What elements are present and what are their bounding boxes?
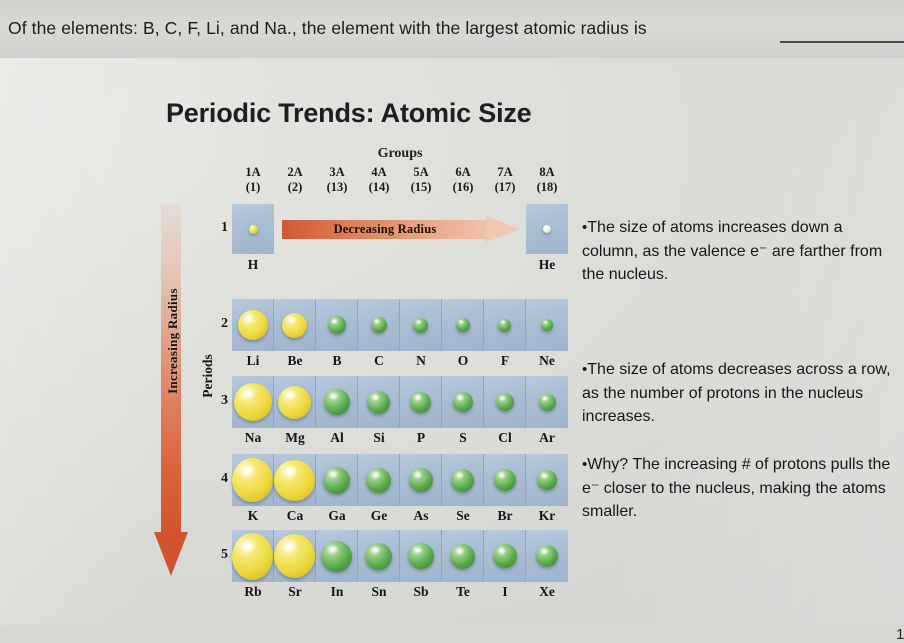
atom-sphere-Br: [494, 469, 516, 491]
element-symbol-Rb: Rb: [232, 584, 274, 600]
element-cell-Sn[interactable]: [358, 530, 400, 582]
question-band: Of the elements: B, C, F, Li, and Na., t…: [0, 0, 904, 58]
group-header-letter: 2A: [287, 165, 302, 179]
periodic-row-3: [232, 376, 568, 428]
element-cell-Si[interactable]: [358, 376, 400, 428]
element-cell-Na[interactable]: [232, 376, 274, 428]
increasing-radius-arrow: Increasing Radius: [154, 204, 188, 576]
atom-sphere-He: [543, 225, 551, 233]
symbol-row-4: KCaGaGeAsSeBrKr: [232, 508, 568, 524]
group-header-number: (14): [358, 180, 400, 195]
element-symbol-Cl: Cl: [484, 430, 526, 446]
element-cell-As[interactable]: [400, 454, 442, 506]
element-cell-Kr[interactable]: [526, 454, 568, 506]
element-symbol-K: K: [232, 508, 274, 524]
element-cell-S[interactable]: [442, 376, 484, 428]
element-cell-Ar[interactable]: [526, 376, 568, 428]
atom-sphere-P: [410, 392, 431, 413]
atom-sphere-H: [249, 225, 258, 234]
bullet-point-1: •The size of atoms increases down a colu…: [582, 216, 900, 287]
element-cell-Ga[interactable]: [316, 454, 358, 506]
element-symbol-Br: Br: [484, 508, 526, 524]
group-header-letter: 4A: [371, 165, 386, 179]
arrow-head-icon: [486, 216, 520, 242]
group-header-number: (15): [400, 180, 442, 195]
element-cell-In[interactable]: [316, 530, 358, 582]
period-number-1: 1: [210, 220, 228, 236]
period-number-5: 5: [210, 547, 228, 563]
element-cell-H[interactable]: [232, 204, 274, 254]
slide-title: Periodic Trends: Atomic Size: [166, 98, 532, 129]
atom-sphere-Sn: [365, 543, 392, 570]
element-symbol-Be: Be: [274, 353, 316, 369]
answer-blank-line[interactable]: [780, 41, 904, 43]
element-cell-Al[interactable]: [316, 376, 358, 428]
element-symbol-Ga: Ga: [316, 508, 358, 524]
group-header-4A: 4A(14): [358, 165, 400, 195]
group-header-2A: 2A(2): [274, 165, 316, 195]
group-header-letter: 5A: [413, 165, 428, 179]
arrow-head-icon: [154, 532, 188, 576]
element-cell-N[interactable]: [400, 299, 442, 351]
atom-sphere-Xe: [536, 545, 558, 567]
symbol-row-5: RbSrInSnSbTeIXe: [232, 584, 568, 600]
bullet-text-1: The size of atoms increases down a colum…: [582, 219, 882, 283]
group-header-number: (16): [442, 180, 484, 195]
group-header-8A: 8A(18): [526, 165, 568, 195]
atom-sphere-O: [456, 318, 470, 332]
element-cell-B[interactable]: [316, 299, 358, 351]
element-symbol-Si: Si: [358, 430, 400, 446]
element-symbol-Na: Na: [232, 430, 274, 446]
element-symbol-Ne: Ne: [526, 353, 568, 369]
periodic-row-5: [232, 530, 568, 582]
element-symbol-Al: Al: [316, 430, 358, 446]
group-header-letter: 3A: [329, 165, 344, 179]
element-symbol-In: In: [316, 584, 358, 600]
atom-sphere-Be: [282, 313, 307, 338]
element-symbol-C: C: [358, 353, 400, 369]
decreasing-radius-arrow: Decreasing Radius: [282, 216, 520, 243]
element-cell-Xe[interactable]: [526, 530, 568, 582]
element-cell-Be[interactable]: [274, 299, 316, 351]
group-header-number: (1): [232, 180, 274, 195]
element-symbol-Ge: Ge: [358, 508, 400, 524]
element-symbol-S: S: [442, 430, 484, 446]
atom-sphere-N: [413, 318, 428, 333]
element-cell-Ne[interactable]: [526, 299, 568, 351]
symbol-row-3: NaMgAlSiPSClAr: [232, 430, 568, 446]
atom-sphere-K: [232, 458, 273, 502]
atom-sphere-Sr: [274, 534, 315, 578]
group-header-number: (13): [316, 180, 358, 195]
element-cell-Ge[interactable]: [358, 454, 400, 506]
element-symbol-N: N: [400, 353, 442, 369]
atom-sphere-Na: [234, 383, 272, 421]
element-cell-K[interactable]: [232, 454, 274, 506]
element-cell-Rb[interactable]: [232, 530, 274, 582]
element-cell-Te[interactable]: [442, 530, 484, 582]
element-symbol-Xe: Xe: [526, 584, 568, 600]
atom-sphere-Rb: [232, 533, 273, 580]
element-symbol-Ca: Ca: [274, 508, 316, 524]
period-number-2: 2: [210, 316, 228, 332]
atom-sphere-B: [328, 316, 346, 334]
element-symbol-H: H: [232, 257, 274, 273]
element-symbol-Sr: Sr: [274, 584, 316, 600]
group-header-letter: 6A: [455, 165, 470, 179]
element-cell-Li[interactable]: [232, 299, 274, 351]
page-number: 1: [896, 626, 904, 643]
element-symbol-As: As: [400, 508, 442, 524]
atom-sphere-Cl: [496, 393, 514, 411]
element-cell-Br[interactable]: [484, 454, 526, 506]
element-symbol-P: P: [400, 430, 442, 446]
group-header-7A: 7A(17): [484, 165, 526, 195]
atom-sphere-F: [498, 319, 511, 332]
atom-sphere-Kr: [537, 470, 557, 490]
element-cell-F[interactable]: [484, 299, 526, 351]
group-header-number: (17): [484, 180, 526, 195]
group-header-number: (2): [274, 180, 316, 195]
groups-axis-label: Groups: [232, 146, 568, 162]
element-cell-O[interactable]: [442, 299, 484, 351]
bullet-text-3: Why? The increasing # of protons pulls t…: [582, 456, 890, 520]
element-cell-Cl[interactable]: [484, 376, 526, 428]
element-cell-Ca[interactable]: [274, 454, 316, 506]
atom-sphere-C: [371, 317, 387, 333]
group-header-number: (18): [526, 180, 568, 195]
group-header-1A: 1A(1): [232, 165, 274, 195]
element-cell-Sb[interactable]: [400, 530, 442, 582]
slide-canvas: Periodic Trends: Atomic Size Groups 1A(1…: [0, 58, 904, 625]
group-header-letter: 8A: [539, 165, 554, 179]
element-symbol-He: He: [526, 257, 568, 273]
atom-sphere-Mg: [278, 386, 311, 419]
group-header-3A: 3A(13): [316, 165, 358, 195]
increasing-radius-label: Increasing Radius: [165, 271, 181, 411]
question-text: Of the elements: B, C, F, Li, and Na., t…: [8, 18, 647, 39]
periodic-row-4: [232, 454, 568, 506]
atom-sphere-In: [321, 541, 352, 572]
element-symbol-Sn: Sn: [358, 584, 400, 600]
atom-sphere-Ca: [274, 460, 315, 501]
element-symbol-F: F: [484, 353, 526, 369]
period-number-3: 3: [210, 393, 228, 409]
bullet-point-2: •The size of atoms decreases across a ro…: [582, 358, 900, 429]
atom-sphere-Ge: [366, 468, 391, 493]
group-header-letter: 7A: [497, 165, 512, 179]
element-cell-Sr[interactable]: [274, 530, 316, 582]
element-symbol-Te: Te: [442, 584, 484, 600]
period-number-4: 4: [210, 471, 228, 487]
bullet-point-3: •Why? The increasing # of protons pulls …: [582, 453, 900, 524]
element-cell-I[interactable]: [484, 530, 526, 582]
element-cell-C[interactable]: [358, 299, 400, 351]
bullet-text-2: The size of atoms decreases across a row…: [582, 361, 891, 425]
element-cell-Se[interactable]: [442, 454, 484, 506]
element-symbol-I: I: [484, 584, 526, 600]
symbol-row-2: LiBeBCNOFNe: [232, 353, 568, 369]
atom-sphere-Se: [451, 469, 474, 492]
atom-sphere-I: [493, 544, 517, 568]
atom-sphere-Te: [450, 544, 475, 569]
atom-sphere-Ar: [539, 394, 556, 411]
element-symbol-Mg: Mg: [274, 430, 316, 446]
atom-sphere-As: [409, 468, 433, 492]
element-symbol-Kr: Kr: [526, 508, 568, 524]
periodic-row-2: [232, 299, 568, 351]
group-header-letter: 1A: [245, 165, 260, 179]
element-symbol-Ar: Ar: [526, 430, 568, 446]
element-symbol-O: O: [442, 353, 484, 369]
element-symbol-Li: Li: [232, 353, 274, 369]
atom-sphere-S: [453, 392, 473, 412]
atom-sphere-Al: [324, 389, 350, 415]
atom-sphere-Ne: [541, 319, 553, 331]
atom-sphere-Ga: [323, 467, 350, 494]
decreasing-radius-label: Decreasing Radius: [282, 221, 488, 238]
group-header-6A: 6A(16): [442, 165, 484, 195]
atom-sphere-Li: [238, 310, 268, 340]
group-header-5A: 5A(15): [400, 165, 442, 195]
atom-sphere-Si: [367, 391, 390, 414]
element-cell-P[interactable]: [400, 376, 442, 428]
element-cell-Mg[interactable]: [274, 376, 316, 428]
element-symbol-B: B: [316, 353, 358, 369]
atom-sphere-Sb: [408, 543, 434, 569]
element-cell-He[interactable]: [526, 204, 568, 254]
element-symbol-Sb: Sb: [400, 584, 442, 600]
element-symbol-Se: Se: [442, 508, 484, 524]
